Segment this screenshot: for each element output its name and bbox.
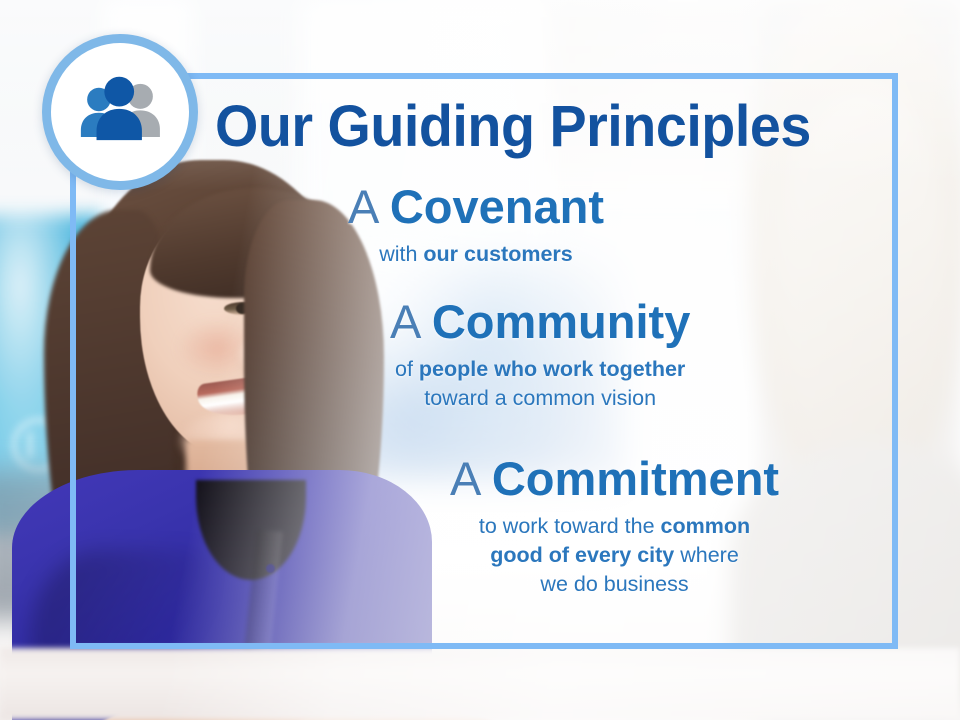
principle-word: Commitment (492, 452, 779, 505)
principle-article: A (390, 295, 419, 348)
subline-lead: of (395, 357, 419, 381)
principle-subline: to work toward the common (450, 512, 779, 541)
subline-lead: we do business (540, 572, 688, 596)
subline-bold: common (661, 514, 751, 538)
principle-subline: we do business (450, 570, 779, 599)
subline-tail: where (674, 543, 739, 567)
principle-subline: of people who work together (390, 355, 690, 384)
subline-bold: people who work together (419, 357, 685, 381)
people-group-icon (73, 76, 167, 148)
subline-lead: to work toward the (479, 514, 661, 538)
table-surface (0, 648, 960, 720)
principle-word: Community (432, 295, 691, 348)
associate-shirt-button (266, 564, 275, 573)
people-badge (42, 34, 198, 190)
principle-heading: A Covenant (348, 183, 604, 231)
subline-lead: with (379, 242, 423, 266)
principle-heading: A Community (390, 298, 690, 346)
principle-covenant: A Covenant with our customers (348, 183, 604, 269)
principle-subline: toward a common vision (390, 384, 690, 413)
principle-commitment: A Commitment to work toward the common g… (450, 455, 779, 599)
page-title: Our Guiding Principles (215, 98, 849, 156)
principle-community: A Community of people who work together … (390, 298, 690, 413)
principle-subline: good of every city where (450, 541, 779, 570)
subline-bold: our customers (423, 242, 572, 266)
subline-lead: toward a common vision (424, 386, 656, 410)
principle-word: Covenant (390, 180, 604, 233)
principle-article: A (450, 452, 479, 505)
subline-bold: good of every city (490, 543, 674, 567)
guiding-principles-graphic: FLOW FLOW AUTOMOTIVE Our Guiding Princ (0, 0, 960, 720)
principle-article: A (348, 180, 377, 233)
principle-heading: A Commitment (450, 455, 779, 503)
principle-subline: with our customers (348, 240, 604, 269)
